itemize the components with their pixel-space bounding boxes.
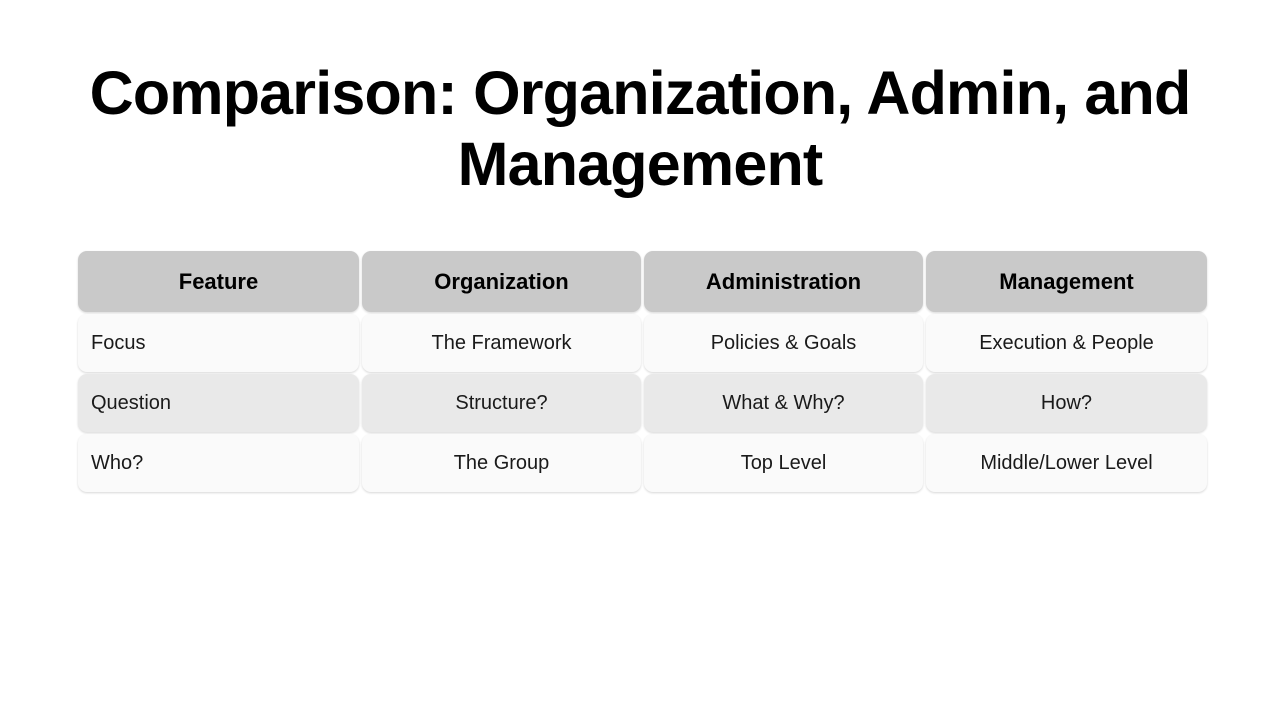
table-header-cell-feature: Feature — [78, 251, 359, 312]
table-cell: Focus — [78, 314, 359, 372]
table-header-label: Management — [999, 269, 1133, 295]
table-row: Question Structure? What & Why? How? — [78, 374, 1204, 432]
table-header-cell-management: Management — [926, 251, 1207, 312]
table-header-label: Feature — [179, 269, 258, 295]
table-cell: Top Level — [644, 434, 923, 492]
table-cell-label: Focus — [91, 332, 145, 355]
table-cell: Question — [78, 374, 359, 432]
table-cell-label: The Group — [454, 452, 550, 475]
table-cell-label: Execution & People — [979, 332, 1154, 355]
table-cell: Structure? — [362, 374, 641, 432]
table-header-label: Administration — [706, 269, 861, 295]
table-header-label: Organization — [434, 269, 568, 295]
table-cell-label: Top Level — [741, 452, 827, 475]
table-header-row: Feature Organization Administration Mana… — [78, 251, 1204, 312]
table-cell-label: Policies & Goals — [711, 332, 857, 355]
table-cell: The Framework — [362, 314, 641, 372]
table-cell: The Group — [362, 434, 641, 492]
table-cell: How? — [926, 374, 1207, 432]
table-cell: Middle/Lower Level — [926, 434, 1207, 492]
table-cell: Who? — [78, 434, 359, 492]
table-cell-label: How? — [1041, 392, 1092, 415]
table-cell-label: What & Why? — [722, 392, 844, 415]
page-title: Comparison: Organization, Admin, and Man… — [80, 58, 1200, 200]
comparison-table: Feature Organization Administration Mana… — [78, 251, 1204, 492]
table-cell-label: Middle/Lower Level — [980, 452, 1152, 475]
table-cell: Policies & Goals — [644, 314, 923, 372]
table-row: Who? The Group Top Level Middle/Lower Le… — [78, 434, 1204, 492]
table-cell-label: Structure? — [455, 392, 547, 415]
table-cell-label: Question — [91, 392, 171, 415]
slide: Comparison: Organization, Admin, and Man… — [0, 0, 1280, 720]
table-cell: Execution & People — [926, 314, 1207, 372]
table-cell-label: Who? — [91, 452, 143, 475]
table-row: Focus The Framework Policies & Goals Exe… — [78, 314, 1204, 372]
table-header-cell-administration: Administration — [644, 251, 923, 312]
table-header-cell-organization: Organization — [362, 251, 641, 312]
table-cell: What & Why? — [644, 374, 923, 432]
table-cell-label: The Framework — [431, 332, 571, 355]
